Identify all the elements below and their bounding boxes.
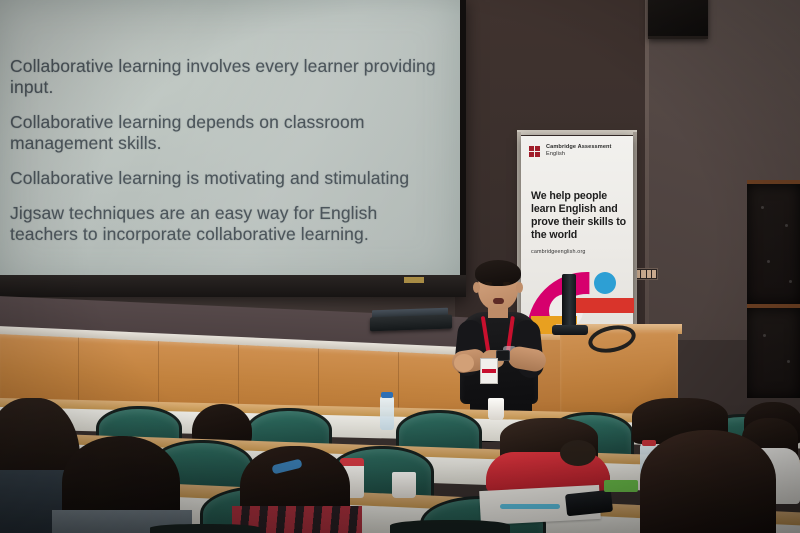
- slide-bullet-4: Jigsaw techniques are an easy way for En…: [10, 203, 450, 245]
- attendee-front-right-woman: [640, 430, 776, 533]
- wall-seam: [645, 0, 649, 330]
- screen-bottom-bar: [0, 275, 466, 297]
- presenter-wristwatch: [496, 350, 510, 361]
- green-notebook[interactable]: [604, 480, 638, 492]
- slide-content: Collaborative learning involves every le…: [10, 56, 450, 259]
- container-lid: [340, 458, 364, 466]
- presenter-ear-left: [473, 282, 480, 293]
- slide-bullet-1: Collaborative learning involves every le…: [10, 56, 450, 98]
- paper-cup[interactable]: [488, 398, 504, 420]
- slide-bullet-2: Collaborative learning depends on classr…: [10, 112, 450, 154]
- presenter-ear-right: [516, 282, 523, 293]
- bottle-cap: [381, 392, 393, 398]
- screen-label-tag: [404, 277, 424, 283]
- cambridge-shield-icon: [529, 146, 542, 160]
- presenter-eye-left: [485, 282, 492, 285]
- wall-speaker-icon: [648, 0, 708, 39]
- banner-red-bar: [576, 298, 634, 313]
- water-bottle[interactable]: [380, 396, 394, 430]
- bottle-cap: [642, 440, 656, 446]
- attendee-small-head: [560, 440, 596, 466]
- chair-foreground[interactable]: [150, 524, 260, 533]
- presenter-mouth: [493, 298, 504, 304]
- paper-cup[interactable]: [392, 472, 416, 498]
- laptop[interactable]: [370, 315, 452, 332]
- pen[interactable]: [500, 504, 560, 509]
- banner-headline: We help people learn English and prove t…: [531, 190, 627, 242]
- presenter-hair: [475, 260, 521, 286]
- presenter-eye-right: [503, 282, 510, 285]
- presenter-hand-left: [454, 354, 474, 372]
- banner-url: cambridgeenglish.org: [531, 249, 586, 255]
- lecture-hall-photo: Collaborative learning involves every le…: [0, 0, 800, 533]
- acoustic-panel: [747, 180, 800, 304]
- banner-brand-text: Cambridge Assessment English: [546, 144, 628, 158]
- slide-bullet-3: Collaborative learning is motivating and…: [10, 168, 450, 189]
- banner-brand-line-2: English: [546, 151, 628, 158]
- banner-brand-line-1: Cambridge Assessment: [546, 144, 628, 151]
- light-switch-plate[interactable]: [634, 268, 658, 280]
- chair-foreground[interactable]: [390, 520, 510, 533]
- acoustic-panel: [747, 304, 800, 398]
- presenter-badge: [480, 358, 498, 384]
- banner-top-rail: [517, 130, 637, 135]
- banner-blue-circle: [594, 272, 616, 294]
